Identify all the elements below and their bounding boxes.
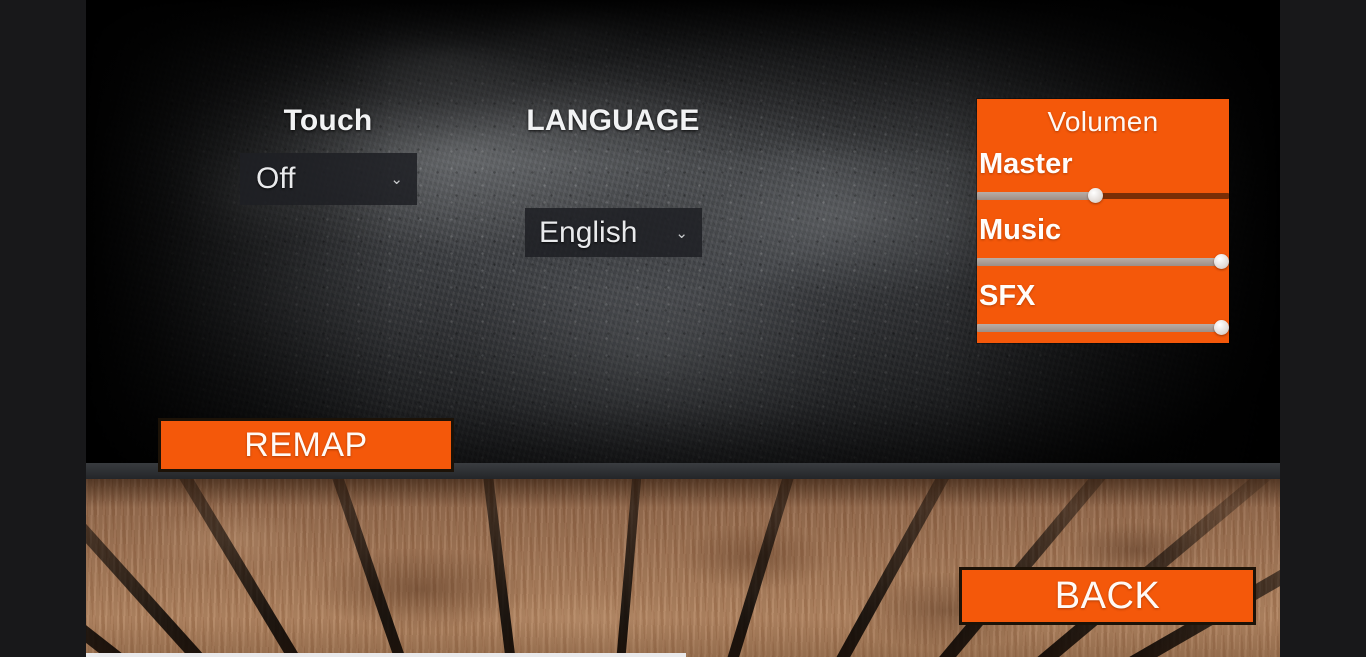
volume-slider-sfx[interactable] — [977, 323, 1229, 332]
slider-fill-music — [977, 258, 1221, 266]
game-options-screen: Touch Off ⌄ LANGUAGE English ⌄ Volumen M… — [0, 0, 1366, 657]
letterbox-right — [1280, 0, 1366, 657]
slider-handle-master[interactable] — [1088, 188, 1103, 203]
volume-label-master: Master — [977, 147, 1229, 181]
remap-button[interactable]: REMAP — [158, 418, 454, 472]
language-dropdown-value: English — [539, 216, 637, 250]
volume-slider-master[interactable] — [977, 191, 1229, 200]
slider-handle-music[interactable] — [1214, 254, 1229, 269]
volume-slider-music[interactable] — [977, 257, 1229, 266]
touch-label: Touch — [238, 104, 418, 138]
language-option-group: LANGUAGE — [523, 104, 703, 138]
volume-label-sfx: SFX — [977, 279, 1229, 313]
volume-row-sfx: SFX — [977, 279, 1229, 332]
touch-dropdown-value: Off — [256, 162, 295, 196]
game-viewport: Touch Off ⌄ LANGUAGE English ⌄ Volumen M… — [86, 0, 1280, 657]
slider-fill-master — [977, 192, 1095, 200]
volume-label-music: Music — [977, 213, 1229, 247]
volume-panel: Volumen MasterMusicSFX — [977, 99, 1229, 343]
language-dropdown[interactable]: English ⌄ — [525, 208, 702, 257]
language-label: LANGUAGE — [523, 104, 703, 138]
letterbox-left — [0, 0, 86, 657]
slider-fill-sfx — [977, 324, 1221, 332]
volume-row-master: Master — [977, 147, 1229, 200]
touch-option-group: Touch — [238, 104, 418, 138]
chevron-down-icon: ⌄ — [675, 226, 688, 241]
volume-panel-title: Volumen — [977, 99, 1229, 138]
volume-row-music: Music — [977, 213, 1229, 266]
touch-dropdown[interactable]: Off ⌄ — [240, 153, 417, 205]
desktop-bottom-strip — [86, 653, 686, 657]
slider-handle-sfx[interactable] — [1214, 320, 1229, 335]
back-button[interactable]: BACK — [959, 567, 1256, 625]
chevron-down-icon: ⌄ — [390, 172, 403, 187]
